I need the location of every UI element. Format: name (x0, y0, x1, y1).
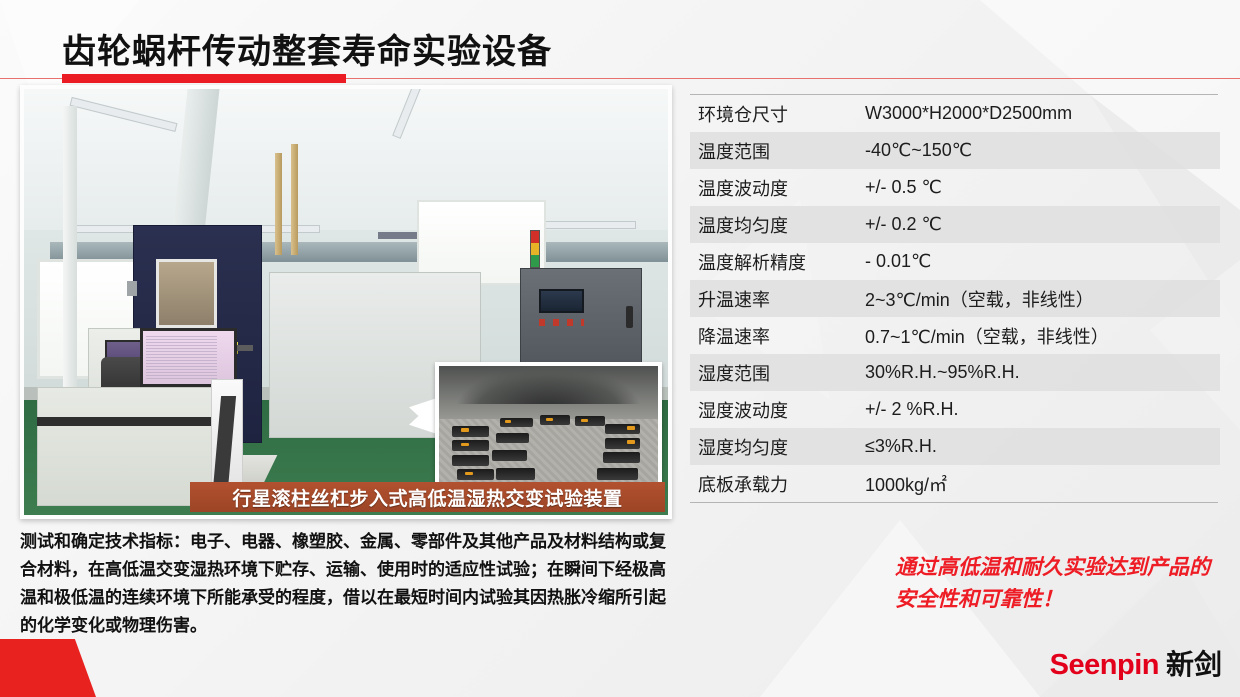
spec-row-value: 30%R.H.~95%R.H. (865, 362, 1220, 383)
spec-row-value: +/- 0.5 ℃ (865, 177, 1220, 198)
page-title: 齿轮蜗杆传动整套寿命实验设备 (62, 24, 552, 73)
spec-row-key: 温度解析精度 (690, 249, 865, 275)
spec-row-key: 温度波动度 (690, 175, 865, 201)
title-underline-accent (62, 74, 346, 83)
spec-row-value: W3000*H2000*D2500mm (865, 103, 1220, 124)
spec-row: 温度解析精度- 0.01℃ (690, 243, 1220, 280)
spec-row: 湿度均匀度≤3%R.H. (690, 428, 1220, 465)
brand-logo-en: Seenpin (1050, 649, 1159, 682)
spec-row: 湿度波动度+/- 2 %R.H. (690, 391, 1220, 428)
slide-canvas: 齿轮蜗杆传动整套寿命实验设备 (0, 0, 1240, 697)
spec-row-value: +/- 2 %R.H. (865, 399, 1220, 420)
photo-caption: 行星滚柱丝杠步入式高低温湿热交变试验装置 (190, 482, 665, 512)
spec-row-key: 湿度均匀度 (690, 434, 865, 460)
spec-row: 降温速率0.7~1℃/min（空载，非线性） (690, 317, 1220, 354)
spec-row-key: 湿度波动度 (690, 397, 865, 423)
spec-row-key: 温度均匀度 (690, 212, 865, 238)
spec-row-key: 升温速率 (690, 286, 865, 312)
inset-photo (435, 362, 662, 490)
spec-row-value: +/- 0.2 ℃ (865, 214, 1220, 235)
spec-row-value: ≤3%R.H. (865, 436, 1220, 457)
description-paragraph: 测试和确定技术指标：电子、电器、橡塑胶、金属、零部件及其他产品及材料结构或复合材… (20, 528, 680, 640)
spec-row-key: 温度范围 (690, 138, 865, 164)
spec-row-value: -40℃~150℃ (865, 140, 1220, 161)
slogan-line-1: 通过高低温和耐久实验达到产品的 (895, 552, 1225, 584)
spec-row-value: - 0.01℃ (865, 251, 1220, 272)
spec-row: 湿度范围30%R.H.~95%R.H. (690, 354, 1220, 391)
spec-row-key: 降温速率 (690, 323, 865, 349)
spec-row-value: 1000kg/㎡ (865, 471, 1220, 497)
slogan-text: 通过高低温和耐久实验达到产品的 安全性和可靠性！ (895, 552, 1225, 616)
brand-logo: Seenpin 新剑 (1050, 643, 1222, 683)
spec-row-key: 湿度范围 (690, 360, 865, 386)
spec-row: 温度范围-40℃~150℃ (690, 132, 1220, 169)
spec-row-key: 底板承载力 (690, 471, 865, 497)
spec-row: 升温速率2~3℃/min（空载，非线性） (690, 280, 1220, 317)
spec-row-key: 环境仓尺寸 (690, 101, 865, 127)
spec-row: 温度均匀度+/- 0.2 ℃ (690, 206, 1220, 243)
spec-row: 温度波动度+/- 0.5 ℃ (690, 169, 1220, 206)
spec-row: 环境仓尺寸W3000*H2000*D2500mm (690, 95, 1220, 132)
spec-row-value: 0.7~1℃/min（空载，非线性） (865, 323, 1220, 349)
spec-table-bottom-rule (690, 502, 1218, 503)
spec-row: 底板承载力1000kg/㎡ (690, 465, 1220, 502)
slogan-line-2: 安全性和可靠性！ (895, 584, 1225, 616)
inset-photo-image (439, 366, 658, 486)
spec-row-value: 2~3℃/min（空载，非线性） (865, 286, 1220, 312)
spec-table: 环境仓尺寸W3000*H2000*D2500mm温度范围-40℃~150℃温度波… (690, 95, 1220, 502)
brand-logo-cn: 新剑 (1166, 643, 1222, 683)
